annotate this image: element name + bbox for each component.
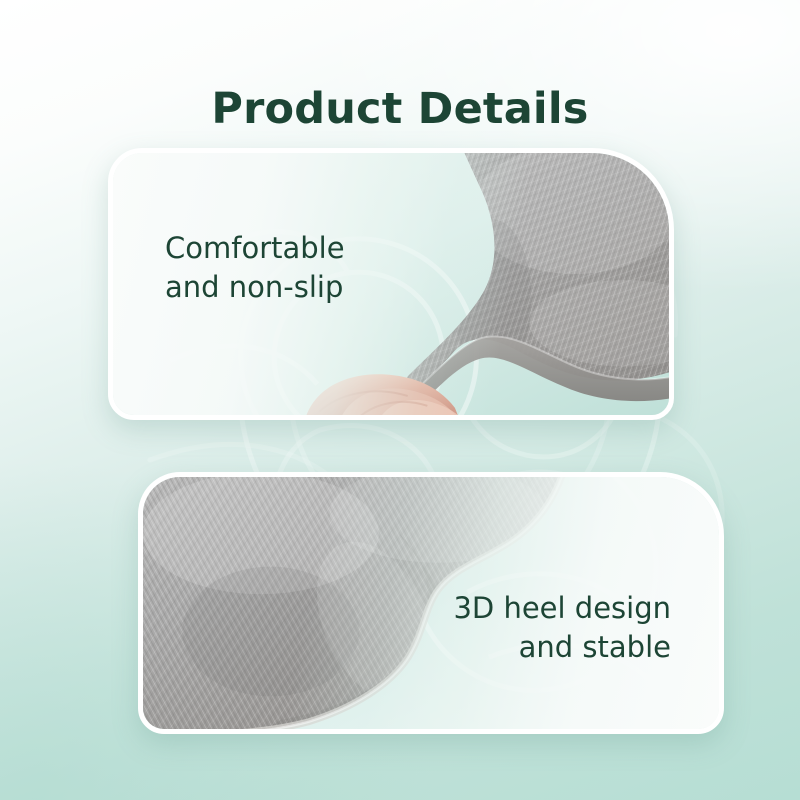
card-2-caption: 3D heel design and stable	[453, 589, 671, 666]
card-1-caption: Comfortable and non-slip	[165, 229, 345, 306]
detail-card-3d-heel[interactable]: 3D heel design and stable	[138, 472, 724, 734]
product-details-page: Product Details	[0, 0, 800, 800]
page-title: Product Details	[0, 85, 800, 134]
detail-card-comfortable[interactable]: Comfortable and non-slip	[108, 148, 674, 420]
